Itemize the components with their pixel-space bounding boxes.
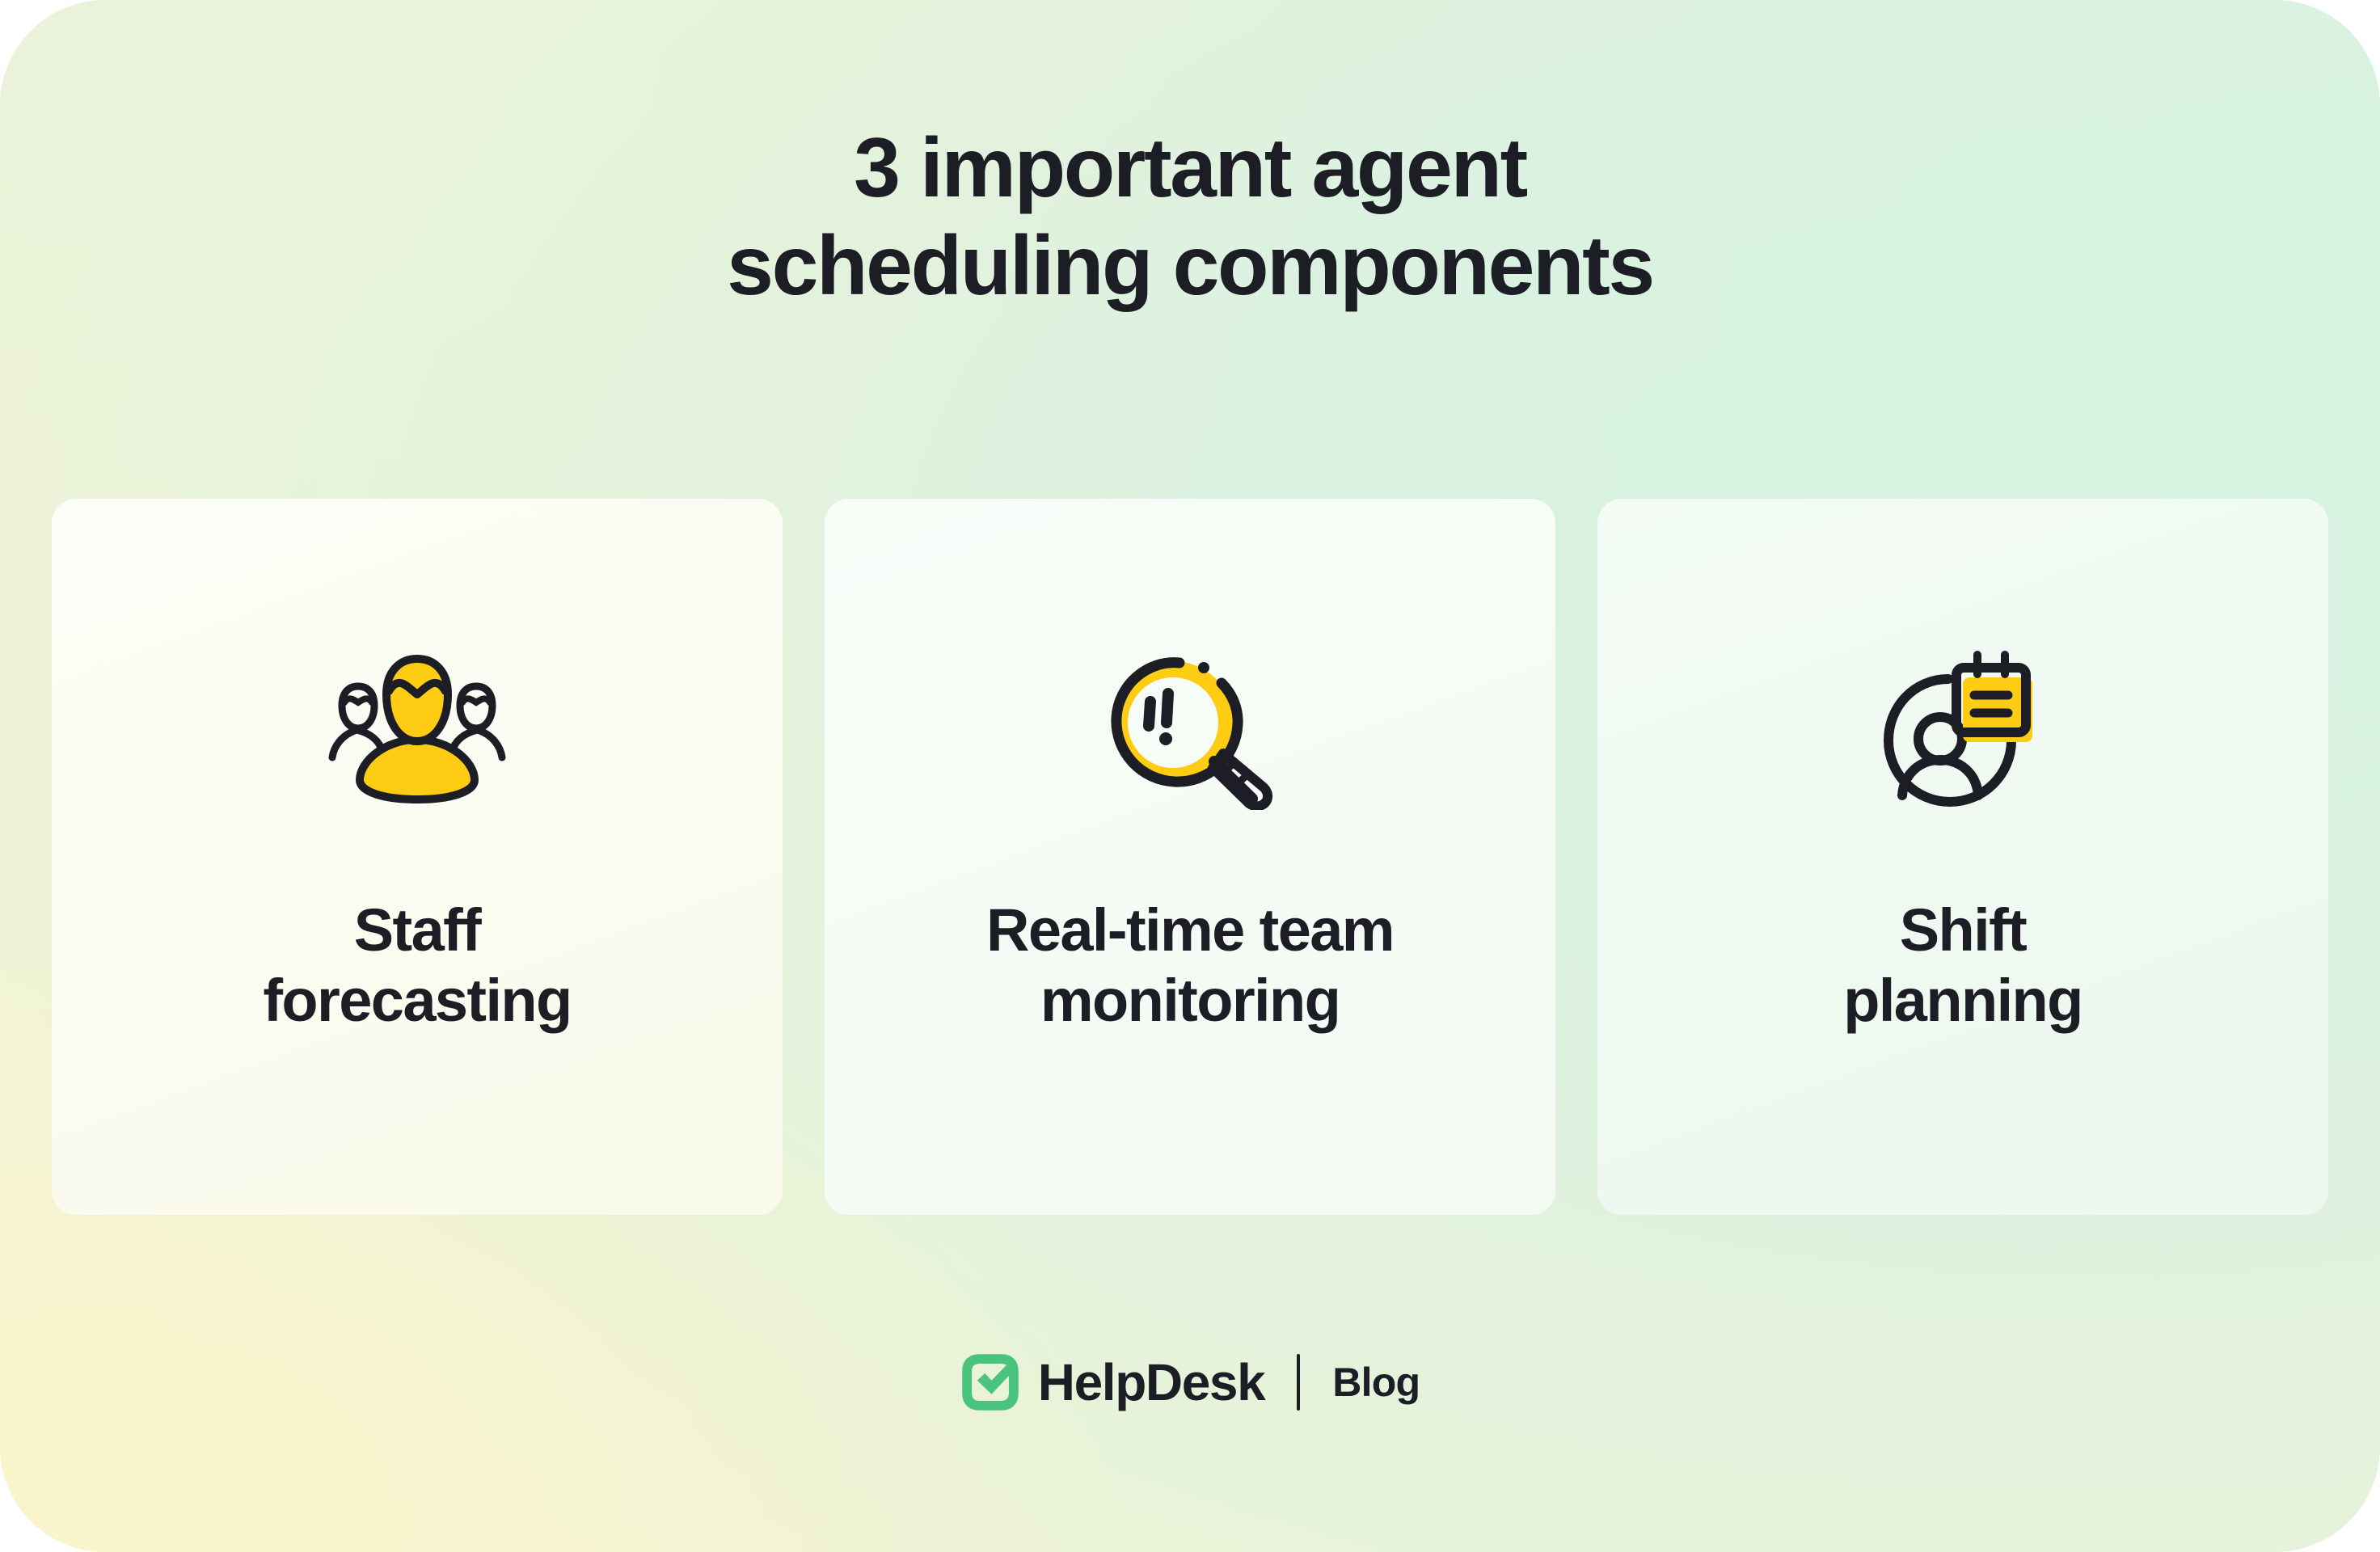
brand-footer: HelpDesk Blog bbox=[0, 1334, 2380, 1431]
page-title-line-2: scheduling components bbox=[0, 217, 2380, 315]
helpdesk-checkmark-logo bbox=[960, 1352, 1020, 1412]
card-staff-forecasting: Staff forecasting bbox=[52, 499, 783, 1215]
person-calendar-icon bbox=[1597, 644, 2328, 814]
card-label-line-1: Real-time team bbox=[847, 895, 1533, 965]
page-title: 3 important agent scheduling components bbox=[0, 120, 2380, 314]
card-label: Real-time team monitoring bbox=[825, 895, 1555, 1036]
brand-divider bbox=[1297, 1354, 1300, 1411]
brand-name: HelpDesk bbox=[1038, 1356, 1265, 1408]
helpdesk-logo[interactable]: HelpDesk bbox=[960, 1352, 1265, 1412]
card-label-line-2: planning bbox=[1620, 965, 2306, 1035]
components-card-row: Staff forecasting bbox=[52, 499, 2328, 1215]
card-shift-planning: Shift planning bbox=[1597, 499, 2328, 1215]
card-label-line-1: Staff bbox=[74, 895, 760, 965]
infographic-canvas: 3 important agent scheduling components bbox=[0, 0, 2380, 1552]
page-title-line-1: 3 important agent bbox=[0, 120, 2380, 217]
card-real-time-team-monitoring: Real-time team monitoring bbox=[825, 499, 1555, 1215]
card-label: Shift planning bbox=[1597, 895, 2328, 1036]
brand-section-label[interactable]: Blog bbox=[1332, 1362, 1420, 1402]
card-label-line-2: forecasting bbox=[74, 965, 760, 1035]
magnifying-glass-alert-icon bbox=[825, 644, 1555, 814]
group-of-people-icon bbox=[52, 644, 783, 814]
card-label: Staff forecasting bbox=[52, 895, 783, 1036]
card-label-line-2: monitoring bbox=[847, 965, 1533, 1035]
card-label-line-1: Shift bbox=[1620, 895, 2306, 965]
